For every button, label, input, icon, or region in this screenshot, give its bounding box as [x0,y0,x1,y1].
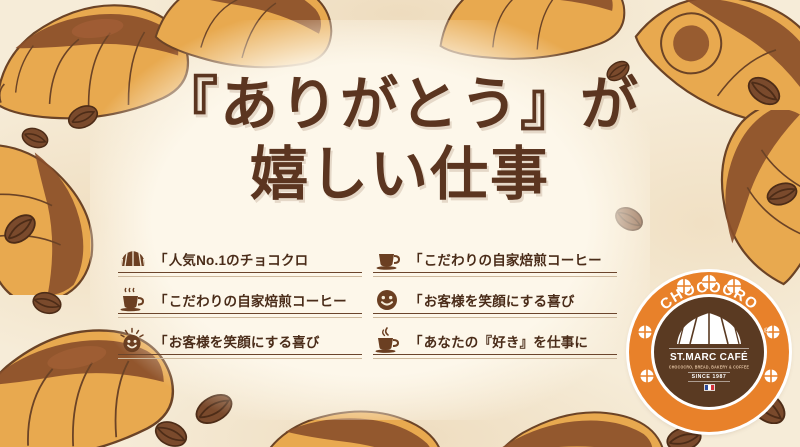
list-item-label: 「あなたの『好き』を仕事に [409,331,588,351]
logo-inner-disc: ST.MARC CAFÉ CHOCOCRO, BREAD, BAKERY & C… [651,294,767,410]
list-item-text: 人気No.1のチョコクロ [169,253,309,268]
list-item-label: 「お客様を笑顔にする喜び [154,331,320,351]
list-item-label: 「人気No.1のチョコクロ [154,249,308,269]
headline-line-1: 『ありがとう』が [0,72,800,138]
coffee-cup-icon [373,245,403,273]
coffee-bean-decoration-3 [0,214,40,244]
logo-brand-name: ST.MARC CAFÉ [669,348,749,363]
list-item-text: あなたの『好き』を仕事に [424,335,588,350]
feature-list: 「人気No.1のチョコクロ 「こだわりの自家焙煎コーヒー [118,238,613,361]
list-item: 「こだわりの自家焙煎コーヒー [373,238,613,279]
quote-open: 「 [154,335,168,350]
logo-tagline: CHOCOCRO, BREAD, BAKERY & COFFEE [669,365,749,370]
list-item-label: 「こだわりの自家焙煎コーヒー [409,249,602,269]
list-item: 「お客様を笑顔にする喜び [373,279,613,320]
registered-mark: ® [764,328,769,335]
smiley-rays-icon [118,327,148,355]
list-item-label: 「こだわりの自家焙煎コーヒー [154,290,347,310]
list-item-text: お客様を笑顔にする喜び [169,335,320,350]
smiley-face-icon [373,286,403,314]
list-item-text: お客様を笑顔にする喜び [424,294,575,309]
croissant-decoration-top-center-right [430,0,630,72]
quote-open: 「 [154,253,168,268]
list-item: 「お客様を笑顔にする喜び [118,320,358,361]
list-item: 「あなたの『好き』を仕事に [373,320,613,361]
chococro-fan-icon [673,310,745,346]
quote-open: 「 [154,294,168,309]
st-marc-cafe-logo: CHOCOCRO サンマルクカフェ [629,272,789,432]
french-flag-icon [704,384,715,391]
croissant-decoration-top-center-left [150,0,340,80]
quote-open: 「 [409,294,423,309]
coffee-bean-decoration-4 [30,290,64,316]
headline-line-2: 嬉しい仕事 [0,142,800,208]
coffee-bean-decoration-12 [612,206,646,232]
coffee-bean-decoration-6 [152,420,190,447]
list-item-label: 「お客様を笑顔にする喜び [409,290,575,310]
list-item-text: こだわりの自家焙煎コーヒー [424,253,602,268]
logo-since: SINCE 1987 [688,372,731,382]
coffee-cup-steam-icon [118,286,148,314]
poster-canvas: 『ありがとう』が 嬉しい仕事 「人気No.1のチョコクロ [0,0,800,447]
quote-open: 「 [409,253,423,268]
croissant-decoration-bottom-center [250,400,450,447]
coffee-bean-decoration-5 [192,392,236,426]
coffee-cup-steam-icon [373,327,403,355]
page-title: 『ありがとう』が 嬉しい仕事 [0,72,800,208]
quote-open: 「 [409,335,423,350]
list-item: 「人気No.1のチョコクロ [118,238,358,279]
list-item-text: こだわりの自家焙煎コーヒー [169,294,347,309]
list-item: 「こだわりの自家焙煎コーヒー [118,279,358,320]
croissant-icon [118,245,148,273]
